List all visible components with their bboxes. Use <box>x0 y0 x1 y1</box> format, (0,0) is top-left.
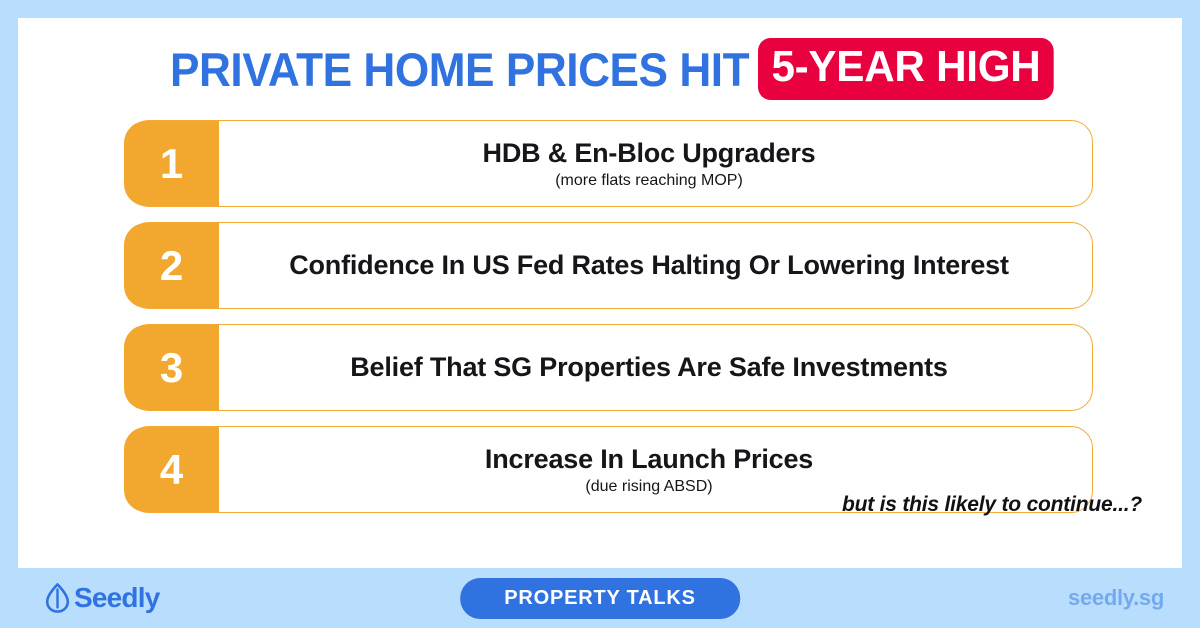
list-item-subtitle: (due rising ABSD) <box>585 478 712 496</box>
property-talks-badge[interactable]: PROPERTY TALKS <box>460 578 740 619</box>
brand-name: Seedly <box>74 582 159 614</box>
list-item-number: 3 <box>160 347 183 389</box>
infographic-poster: PRIVATE HOME PRICES HIT5-YEAR HIGH 1 HDB… <box>0 0 1200 628</box>
content-card: PRIVATE HOME PRICES HIT5-YEAR HIGH 1 HDB… <box>18 18 1182 568</box>
seedly-droplet-icon <box>44 583 71 613</box>
list-item-number-tab: 2 <box>124 223 219 308</box>
list-item: 2 Confidence In US Fed Rates Halting Or … <box>106 222 1093 309</box>
list-item-number-tab: 3 <box>124 325 219 410</box>
list-item-number: 2 <box>160 245 183 287</box>
list-item-content: HDB & En-Bloc Upgraders (more flats reac… <box>219 120 1079 207</box>
footer-bar: Seedly PROPERTY TALKS seedly.sg <box>0 568 1200 628</box>
list-item-number-tab: 4 <box>124 427 219 512</box>
brand-lockup[interactable]: Seedly <box>44 582 159 614</box>
list-item-content: Belief That SG Properties Are Safe Inves… <box>219 324 1079 411</box>
list-item-number-tab: 1 <box>124 121 219 206</box>
list-item: 1 HDB & En-Bloc Upgraders (more flats re… <box>106 120 1093 207</box>
reasons-list: 1 HDB & En-Bloc Upgraders (more flats re… <box>106 120 1093 528</box>
list-item-content: Confidence In US Fed Rates Halting Or Lo… <box>219 222 1079 309</box>
headline-highlight-badge: 5-YEAR HIGH <box>758 38 1054 100</box>
list-item: 3 Belief That SG Properties Are Safe Inv… <box>106 324 1093 411</box>
list-item-title: HDB & En-Bloc Upgraders <box>483 138 816 168</box>
list-item-title: Confidence In US Fed Rates Halting Or Lo… <box>289 250 1009 280</box>
list-item-number: 4 <box>160 449 183 491</box>
list-item-content: Increase In Launch Prices (due rising AB… <box>219 426 1079 513</box>
headline-main-text: PRIVATE HOME PRICES HIT <box>170 42 749 97</box>
list-item-title: Increase In Launch Prices <box>485 444 813 474</box>
list-item-subtitle: (more flats reaching MOP) <box>555 172 743 190</box>
list-item-number: 1 <box>160 143 183 185</box>
headline: PRIVATE HOME PRICES HIT5-YEAR HIGH <box>18 38 1182 100</box>
website-url[interactable]: seedly.sg <box>1068 585 1164 611</box>
list-item-title: Belief That SG Properties Are Safe Inves… <box>350 352 948 382</box>
list-item: 4 Increase In Launch Prices (due rising … <box>106 426 1093 513</box>
